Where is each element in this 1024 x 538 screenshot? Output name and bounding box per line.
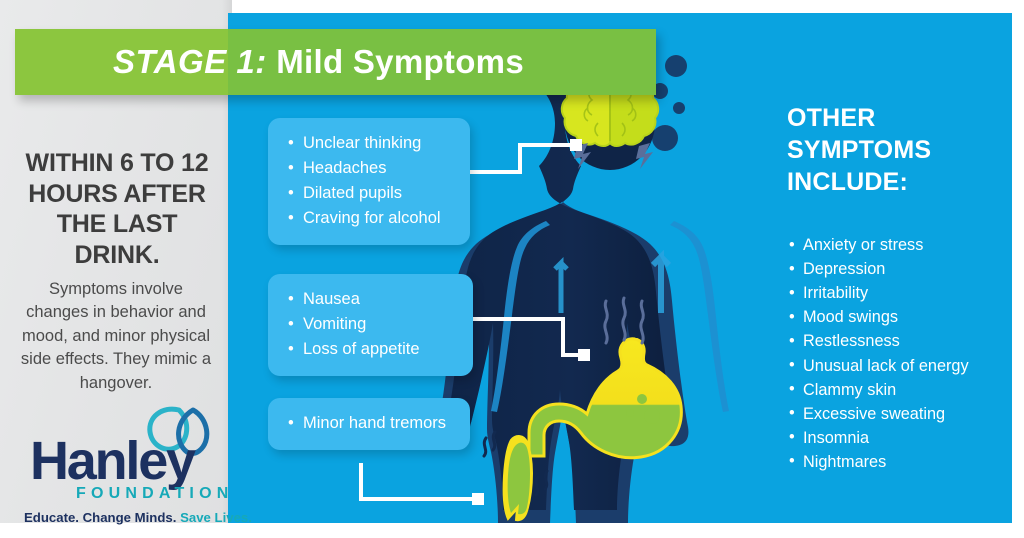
callout-hand-symptoms[interactable]: Minor hand tremors: [268, 398, 470, 450]
connector-line-hand: [356, 463, 491, 513]
list-item: Depression: [789, 257, 1021, 281]
timing-heading: WITHIN 6 TO 12 HOURS AFTER THE LAST DRIN…: [12, 148, 222, 270]
list-item: Excessive sweating: [789, 402, 1021, 426]
logo-tagline-navy: Educate. Change Minds.: [24, 510, 176, 525]
list-item: Minor hand tremors: [288, 411, 452, 436]
list-item: Anxiety or stress: [789, 233, 1021, 257]
list-item: Nightmares: [789, 450, 1021, 474]
list-item: Clammy skin: [789, 378, 1021, 402]
logo-tagline-teal: Save Lives.: [176, 510, 252, 525]
logo-subtitle: FOUNDATION: [76, 485, 233, 503]
stage-banner: STAGE 1: Mild Symptoms: [15, 29, 656, 95]
callout-brain-list: Unclear thinking Headaches Dilated pupil…: [288, 131, 452, 231]
banner-title: STAGE 1: Mild Symptoms: [15, 43, 524, 81]
connector-line-stomach: [458, 313, 598, 373]
list-item: Nausea: [288, 287, 455, 312]
callout-stomach-list: Nausea Vomiting Loss of appetite: [288, 287, 455, 362]
list-item: Mood swings: [789, 305, 1021, 329]
connector-line-brain: [458, 135, 588, 185]
callout-hand-list: Minor hand tremors: [288, 411, 452, 436]
banner-stage-label: STAGE 1:: [113, 43, 267, 80]
hanley-foundation-logo[interactable]: Hanley FOUNDATION Educate. Change Minds.…: [20, 404, 220, 514]
list-item: Headaches: [288, 156, 452, 181]
logo-wordmark: Hanley: [30, 434, 194, 488]
banner-stage-title: Mild Symptoms: [267, 43, 524, 80]
list-item: Restlessness: [789, 329, 1021, 353]
list-item: Insomnia: [789, 426, 1021, 450]
logo-tagline: Educate. Change Minds. Save Lives.: [24, 510, 224, 525]
other-symptoms-list: Anxiety or stress Depression Irritabilit…: [789, 233, 1021, 474]
other-symptoms-heading: OTHER SYMPTOMS INCLUDE:: [787, 102, 997, 198]
list-item: Craving for alcohol: [288, 206, 452, 231]
list-item: Loss of appetite: [288, 337, 455, 362]
timing-description: Symptoms involve changes in behavior and…: [16, 278, 216, 395]
callout-brain-symptoms[interactable]: Unclear thinking Headaches Dilated pupil…: [268, 118, 470, 245]
list-item: Dilated pupils: [288, 181, 452, 206]
list-item: Vomiting: [288, 312, 455, 337]
list-item: Irritability: [789, 281, 1021, 305]
list-item: Unclear thinking: [288, 131, 452, 156]
callout-stomach-symptoms[interactable]: Nausea Vomiting Loss of appetite: [268, 274, 473, 376]
list-item: Unusual lack of energy: [789, 354, 1021, 378]
infographic-root: STAGE 1: Mild Symptoms WITHIN 6 TO 12 HO…: [0, 0, 1024, 538]
